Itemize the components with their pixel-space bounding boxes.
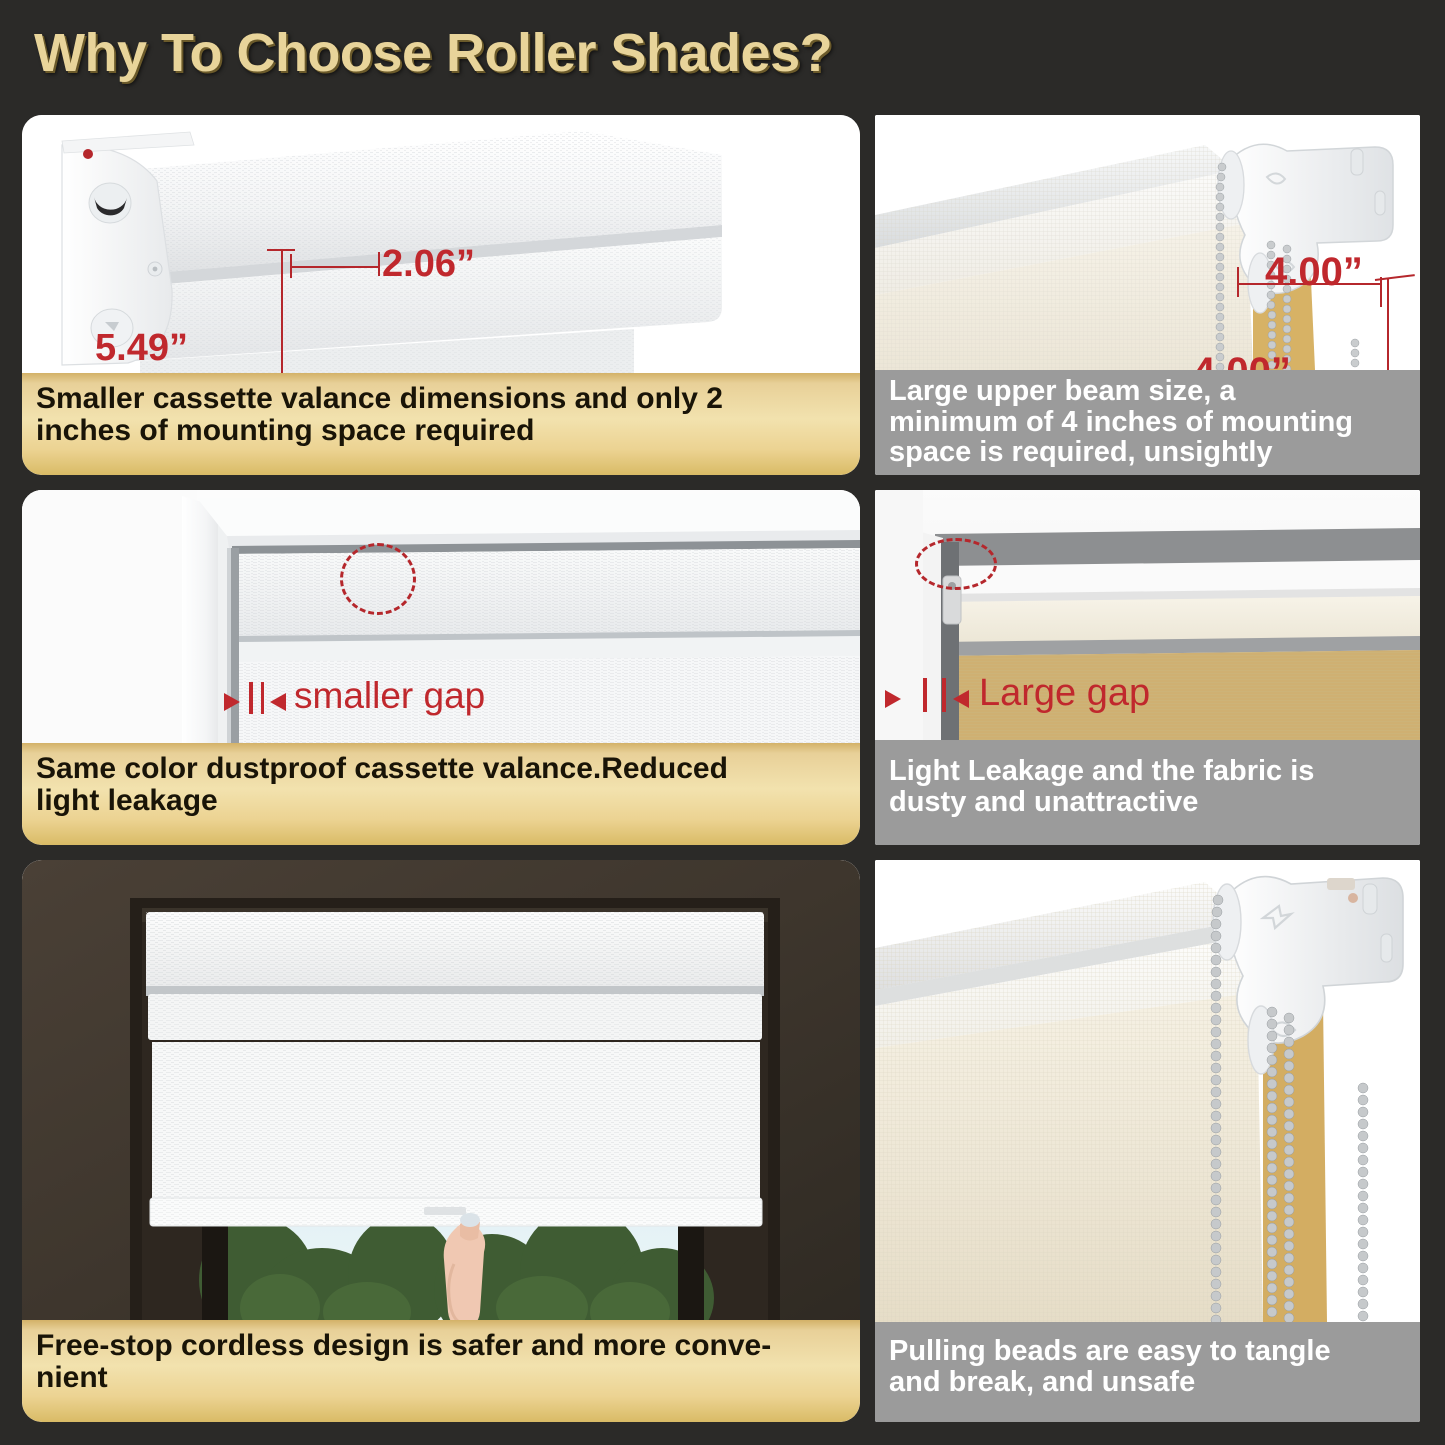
smaller-gap-label: smaller gap xyxy=(294,675,485,717)
width-dimension-line xyxy=(290,266,380,268)
large-gap-marker-2 xyxy=(942,678,946,712)
panel-2-caption: Large upper beam size, a minimum of 4 in… xyxy=(875,370,1420,475)
panel-5-caption: Free-stop cordless design is safer and m… xyxy=(22,1320,860,1422)
panel-6-caption-line-2: and break, and unsafe xyxy=(889,1367,1406,1398)
gap-arrow-pointing-left xyxy=(270,693,286,711)
panel-light-leakage: Large gap Light Leakage and the fabric i… xyxy=(875,490,1420,845)
height-dimension-label: 5.49” xyxy=(95,327,188,370)
large-gap-marker-1 xyxy=(923,678,927,712)
panel-2-caption-line-3: space is required, unsightly xyxy=(889,437,1406,468)
cordless-shade-window-scene xyxy=(22,860,860,1330)
page-title: Why To Choose Roller Shades? xyxy=(34,22,832,84)
large-gap-highlight xyxy=(915,538,997,590)
panel-6-caption-line-1: Pulling beads are easy to tangle xyxy=(889,1336,1406,1367)
panel-bead-chain-roller: Pulling beads are easy to tangle and bre… xyxy=(875,860,1420,1422)
panel-5-caption-line-1: Free-stop cordless design is safer and m… xyxy=(36,1330,846,1362)
panel-5-image xyxy=(22,860,860,1330)
panel-1-image: 2.06” 5.49” xyxy=(22,115,860,373)
panel-6-caption: Pulling beads are easy to tangle and bre… xyxy=(875,1322,1420,1422)
large-gap-arrow-right xyxy=(885,690,901,708)
beam-width-dimension-label: 4.00” xyxy=(1265,250,1363,295)
valance-gap-highlight xyxy=(340,543,416,615)
panel-4-caption-line-1: Light Leakage and the fabric is xyxy=(889,756,1406,787)
roller-beam-illustration xyxy=(875,115,1420,370)
panel-2-image: 4.00” 4.00” xyxy=(875,115,1420,370)
panel-cassette-valance-dimensions: 2.06” 5.49” Smaller cassette valance dim… xyxy=(22,115,860,475)
width-dimension-tick-right xyxy=(378,252,380,276)
panel-2-caption-line-1: Large upper beam size, a xyxy=(889,376,1406,407)
panel-large-upper-beam: 4.00” 4.00” 4.00” Large upper beam size,… xyxy=(875,115,1420,475)
panel-3-caption-line-1: Same color dustproof cassette valance.Re… xyxy=(36,753,846,785)
panel-2-caption-line-2: minimum of 4 inches of mounting xyxy=(889,407,1406,438)
height-dimension-tick-top xyxy=(267,249,295,251)
beam-width-tick-right xyxy=(1380,277,1382,307)
beam-height-dimension-line xyxy=(1387,279,1389,370)
panel-3-caption: Same color dustproof cassette valance.Re… xyxy=(22,743,860,845)
panel-4-caption: Light Leakage and the fabric is dusty an… xyxy=(875,740,1420,845)
panel-4-caption-line-2: dusty and unattractive xyxy=(889,787,1406,818)
panel-1-caption-line-1: Smaller cassette valance dimensions and … xyxy=(36,383,846,415)
panel-1-caption-line-2: inches of mounting space required xyxy=(36,415,846,447)
panel-5-caption-line-2: nient xyxy=(36,1362,846,1394)
large-gap-arrow-left xyxy=(953,690,969,708)
gap-marker-line-2 xyxy=(261,682,264,714)
bead-chain-roller-illustration xyxy=(875,860,1420,1322)
infographic-root: Why To Choose Roller Shades? xyxy=(0,0,1445,1445)
gap-marker-line-1 xyxy=(249,682,253,714)
panel-dustproof-valance: smaller gap Same color dustproof cassett… xyxy=(22,490,860,845)
height-dimension-line xyxy=(281,249,283,373)
width-dimension-tick-left xyxy=(290,254,292,278)
gap-arrow-pointing-right xyxy=(224,693,240,711)
panel-6-image xyxy=(875,860,1420,1322)
width-dimension-label: 2.06” xyxy=(382,243,475,286)
beam-width-tick-left xyxy=(1237,267,1239,297)
large-gap-label: Large gap xyxy=(979,672,1150,715)
panel-cordless-window-scene: Free-stop cordless design is safer and m… xyxy=(22,860,860,1422)
panel-1-caption: Smaller cassette valance dimensions and … xyxy=(22,373,860,475)
panel-3-caption-line-2: light leakage xyxy=(36,785,846,817)
